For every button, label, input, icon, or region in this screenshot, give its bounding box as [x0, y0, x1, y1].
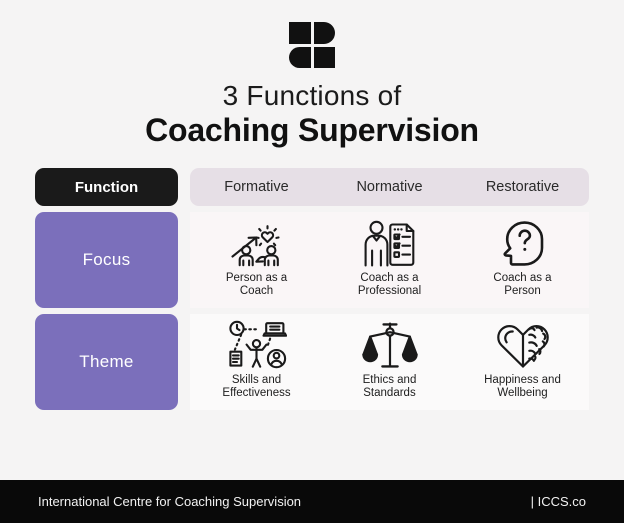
matrix-row-label-focus-text: Focus	[83, 250, 131, 270]
two-people-arrow-heart-icon	[226, 217, 288, 269]
matrix-focus-cells: Person as a Coach	[190, 212, 589, 308]
logo-leaf-top-right	[314, 22, 336, 44]
cell-focus-formative: Person as a Coach	[190, 212, 323, 308]
matrix-row-label-function-text: Function	[75, 179, 138, 196]
cell-focus-restorative: Coach as a Person	[456, 212, 589, 308]
column-header-normative-text: Normative	[356, 179, 422, 195]
matrix-row-label-theme: Theme	[35, 314, 178, 410]
heart-brain-icon	[495, 319, 551, 371]
logo-square-top-left	[289, 22, 311, 44]
iccs-leaf-grid-logo-icon	[289, 22, 335, 68]
title-line-1: 3 Functions of	[0, 80, 624, 111]
skills-person-clock-laptop-icon	[227, 319, 287, 371]
cell-theme-normative: Ethics and Standards	[323, 314, 456, 410]
column-header-formative-text: Formative	[224, 179, 288, 195]
logo-leaf-bottom-left	[289, 47, 311, 69]
footer-bar: International Centre for Coaching Superv…	[0, 480, 624, 523]
cell-label-person-as-a-coach: Person as a Coach	[226, 272, 287, 298]
footer-organisation: International Centre for Coaching Superv…	[38, 494, 301, 509]
matrix-row-theme: Theme	[35, 314, 589, 410]
logo-square-bottom-right	[314, 47, 336, 69]
cell-focus-normative: Coach as a Professional	[323, 212, 456, 308]
cell-label-skills-and-effectiveness: Skills and Effectiveness	[222, 374, 290, 400]
cell-label-coach-as-a-person: Coach as a Person	[493, 272, 551, 298]
matrix-row-focus: Focus	[35, 212, 589, 308]
cell-label-happiness-and-wellbeing: Happiness and Wellbeing	[484, 374, 561, 400]
functions-matrix: Function Formative Normative Restorative…	[35, 168, 589, 410]
brand-logo	[0, 22, 624, 70]
infographic-page: 3 Functions of Coaching Supervision Func…	[0, 0, 624, 523]
professional-checklist-icon	[361, 217, 419, 269]
matrix-row-label-focus: Focus	[35, 212, 178, 308]
matrix-header-row: Function Formative Normative Restorative	[35, 168, 589, 206]
cell-label-ethics-and-standards: Ethics and Standards	[363, 374, 417, 400]
cell-theme-restorative: Happiness and Wellbeing	[456, 314, 589, 410]
title-line-2: Coaching Supervision	[0, 112, 624, 150]
column-header-restorative-text: Restorative	[486, 179, 559, 195]
balance-scales-icon	[362, 319, 418, 371]
matrix-column-headers: Formative Normative Restorative	[190, 168, 589, 206]
matrix-theme-cells: Skills and Effectiveness	[190, 314, 589, 410]
column-header-restorative: Restorative	[456, 168, 589, 206]
matrix-row-label-theme-text: Theme	[79, 352, 133, 372]
column-header-formative: Formative	[190, 168, 323, 206]
page-title: 3 Functions of Coaching Supervision	[0, 80, 624, 150]
column-header-normative: Normative	[323, 168, 456, 206]
footer-website[interactable]: | ICCS.co	[531, 494, 586, 509]
head-question-mark-icon	[499, 217, 547, 269]
cell-theme-formative: Skills and Effectiveness	[190, 314, 323, 410]
matrix-row-label-function: Function	[35, 168, 178, 206]
cell-label-coach-as-a-professional: Coach as a Professional	[358, 272, 421, 298]
